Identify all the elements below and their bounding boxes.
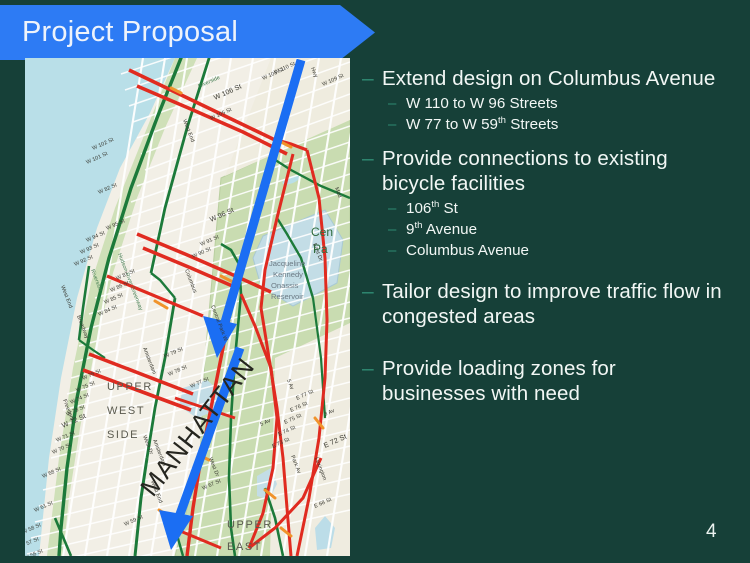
bullet-dash-icon: – xyxy=(362,279,382,330)
svg-text:Reservoir: Reservoir xyxy=(271,292,304,301)
sub-bullet-item: – W 77 to W 59th Streets xyxy=(388,115,740,135)
bullet-item: – Tailor design to improve traffic flow … xyxy=(362,279,740,330)
sub-bullet-item: – 9th Avenue xyxy=(388,220,740,240)
svg-text:SIDE: SIDE xyxy=(107,429,139,441)
sub-bullet-item: – W 110 to W 96 Streets xyxy=(388,94,740,114)
slide-number: 4 xyxy=(706,521,717,543)
bullet-text: Provide loading zones for businesses wit… xyxy=(382,356,722,407)
svg-text:Kennedy: Kennedy xyxy=(273,270,303,279)
bullet-group-3: – Provide loading zones for businesses w… xyxy=(362,356,740,407)
bullet-group-0: – Extend design on Columbus Avenue – W 1… xyxy=(362,66,740,135)
bullet-item: – Extend design on Columbus Avenue xyxy=(362,66,740,92)
bullet-item: – Provide connections to existing bicycl… xyxy=(362,146,740,197)
ordinal-suffix: th xyxy=(498,114,506,125)
map-panel: Hudson River Greenway Riverside Riversid… xyxy=(25,58,350,556)
bullet-group-1: – Provide connections to existing bicycl… xyxy=(362,146,740,261)
bullet-dash-icon: – xyxy=(362,146,382,197)
svg-text:Jacqueline: Jacqueline xyxy=(269,259,305,268)
bullet-text: Provide connections to existing bicycle … xyxy=(382,146,722,197)
sub-bullet-dash-icon: – xyxy=(388,241,406,261)
svg-text:UPPER: UPPER xyxy=(227,519,273,531)
sub-bullet-dash-icon: – xyxy=(388,94,406,114)
sub-bullet-dash-icon: – xyxy=(388,199,406,219)
svg-text:WEST: WEST xyxy=(107,405,145,417)
bullet-text: Extend design on Columbus Avenue xyxy=(382,66,715,92)
sub-bullet-dash-icon: – xyxy=(388,220,406,240)
svg-text:UPPER: UPPER xyxy=(107,381,153,393)
bottom-strip xyxy=(0,556,750,563)
page-title: Project Proposal xyxy=(0,16,238,49)
sub-bullet-item: – 106th St xyxy=(388,199,740,219)
sub-bullet-text: Columbus Avenue xyxy=(406,241,529,261)
slide-canvas: Project Proposal xyxy=(0,0,750,563)
sub-bullet-text: 9th Avenue xyxy=(406,220,477,240)
bullet-dash-icon: – xyxy=(362,66,382,92)
svg-text:Onassis: Onassis xyxy=(271,281,299,290)
sub-bullet-text: W 77 to W 59th Streets xyxy=(406,115,558,135)
sub-bullet-text: 106th St xyxy=(406,199,458,219)
bullet-group-2: – Tailor design to improve traffic flow … xyxy=(362,279,740,330)
bullet-dash-icon: – xyxy=(362,356,382,407)
svg-text:EAST: EAST xyxy=(227,541,262,553)
sub-bullet-dash-icon: – xyxy=(388,115,406,135)
bullet-item: – Provide loading zones for businesses w… xyxy=(362,356,740,407)
svg-text:Cen: Cen xyxy=(311,225,333,239)
title-banner: Project Proposal xyxy=(0,5,375,60)
svg-text:Pa: Pa xyxy=(313,242,328,256)
map-graphic: Hudson River Greenway Riverside Riversid… xyxy=(25,58,350,556)
bullet-list: – Extend design on Columbus Avenue – W 1… xyxy=(362,66,740,536)
sub-bullet-text: W 110 to W 96 Streets xyxy=(406,94,558,114)
bullet-text: Tailor design to improve traffic flow in… xyxy=(382,279,722,330)
sub-bullet-item: – Columbus Avenue xyxy=(388,241,740,261)
